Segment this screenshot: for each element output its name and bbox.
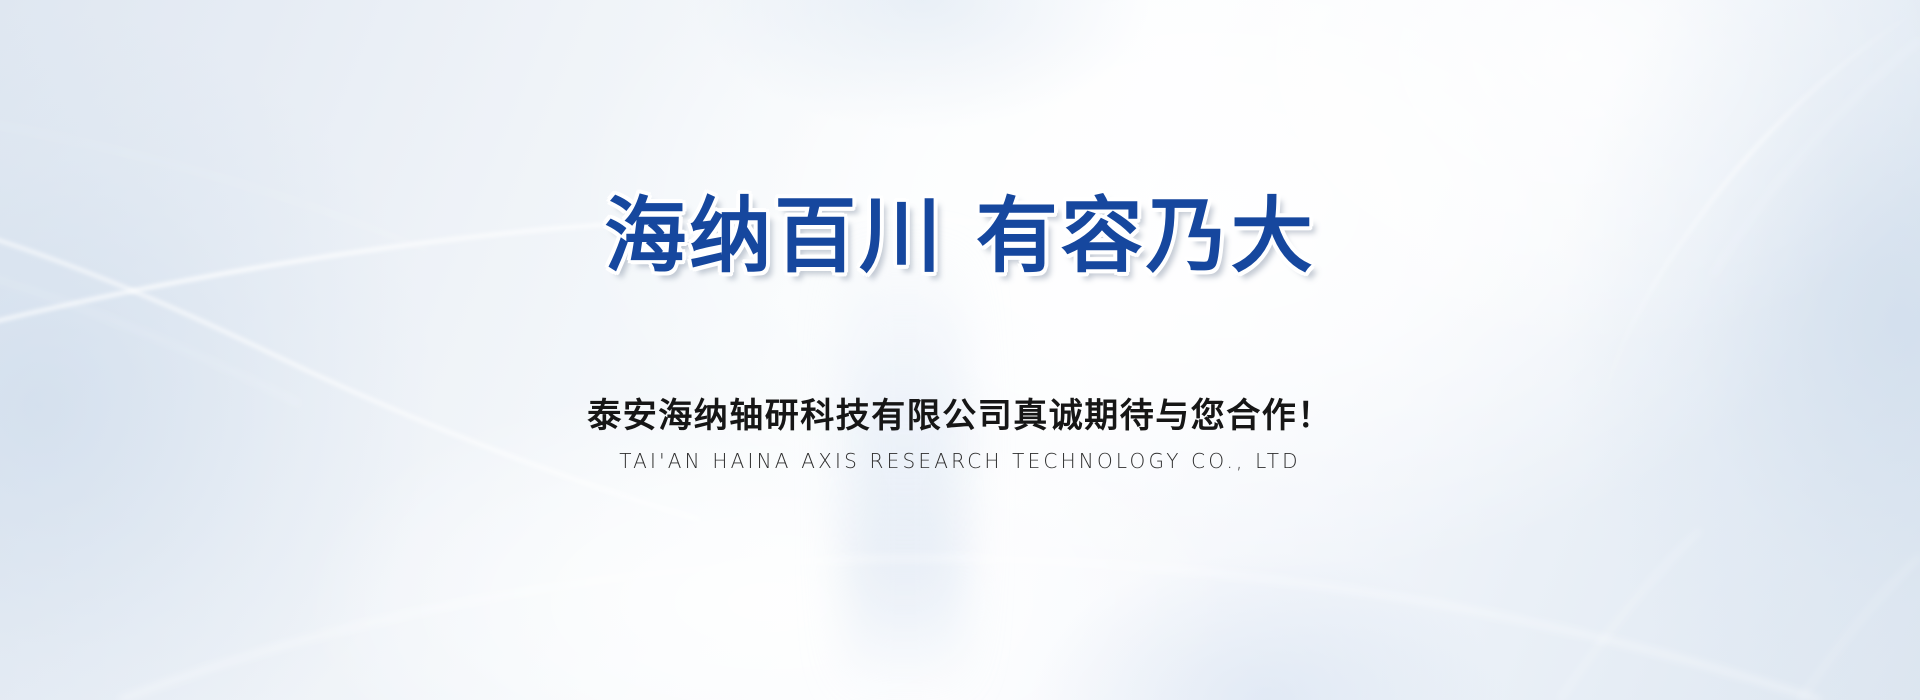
banner-content: 海纳百川 有容乃大 泰安海纳轴研科技有限公司真诚期待与您合作！ TAI'AN H… [0, 0, 1920, 700]
banner-headline: 海纳百川 有容乃大 [0, 196, 1920, 278]
banner-subtitle-chinese: 泰安海纳轴研科技有限公司真诚期待与您合作！ [0, 396, 1920, 437]
hero-banner: 海纳百川 有容乃大 泰安海纳轴研科技有限公司真诚期待与您合作！ TAI'AN H… [0, 0, 1920, 700]
banner-subtitle-block: 泰安海纳轴研科技有限公司真诚期待与您合作！ TAI'AN HAINA AXIS … [0, 396, 1920, 473]
banner-subtitle-english: TAI'AN HAINA AXIS RESEARCH TECHNOLOGY CO… [0, 449, 1920, 473]
